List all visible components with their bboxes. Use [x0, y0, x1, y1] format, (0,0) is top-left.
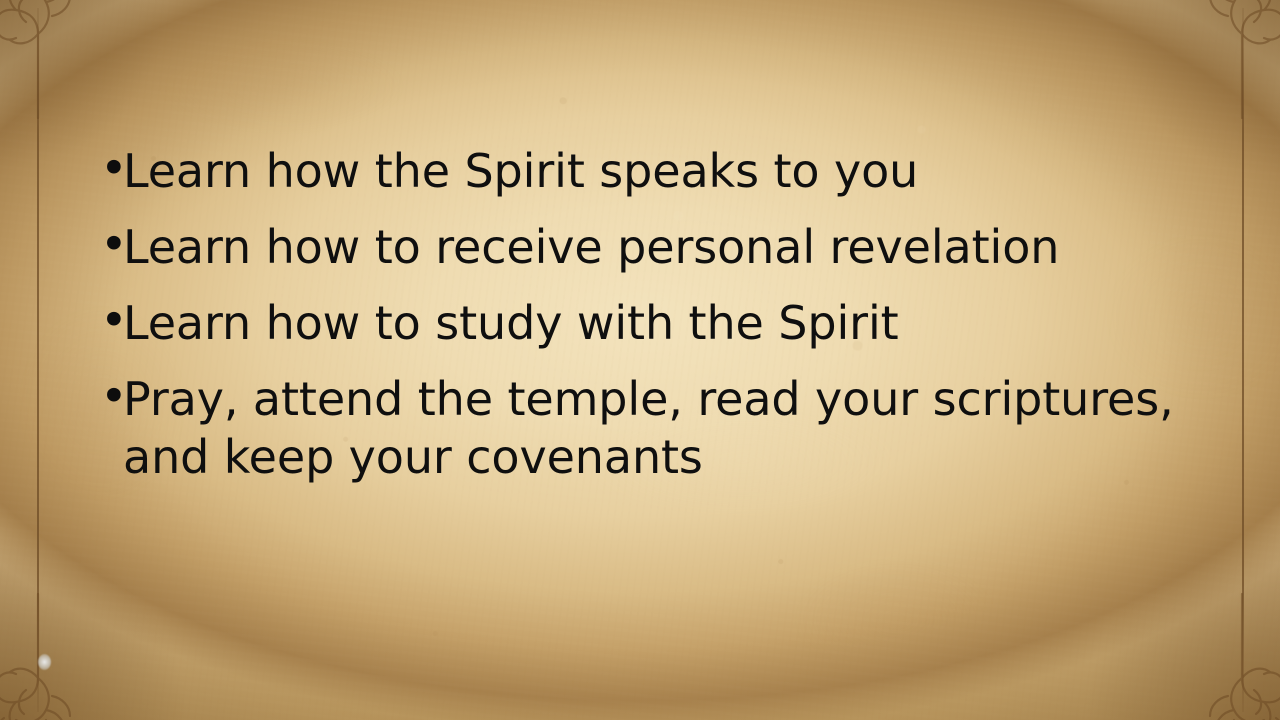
- bullet-list-item: • Learn how to study with the Spirit: [96, 294, 1176, 352]
- bullet-list-item: • Learn how the Spirit speaks to you: [96, 142, 1176, 200]
- paper-speck: [38, 654, 51, 670]
- right-border-rule: [1242, 8, 1244, 712]
- bullet-point-icon: •: [96, 370, 123, 423]
- bullet-item-text: Learn how the Spirit speaks to you: [123, 142, 1176, 200]
- bullet-point-icon: •: [96, 142, 123, 195]
- slide-body-content: • Learn how the Spirit speaks to you • L…: [96, 142, 1176, 504]
- bullet-item-text: Pray, attend the temple, read your scrip…: [123, 370, 1176, 486]
- presentation-slide: • Learn how the Spirit speaks to you • L…: [0, 0, 1280, 720]
- bullet-item-text: Learn how to receive personal revelation: [123, 218, 1176, 276]
- left-border-rule: [37, 8, 39, 712]
- bullet-point-icon: •: [96, 294, 123, 347]
- bullet-list-item: • Learn how to receive personal revelati…: [96, 218, 1176, 276]
- bullet-point-icon: •: [96, 218, 123, 271]
- bullet-item-text: Learn how to study with the Spirit: [123, 294, 1176, 352]
- bullet-list-item: • Pray, attend the temple, read your scr…: [96, 370, 1176, 486]
